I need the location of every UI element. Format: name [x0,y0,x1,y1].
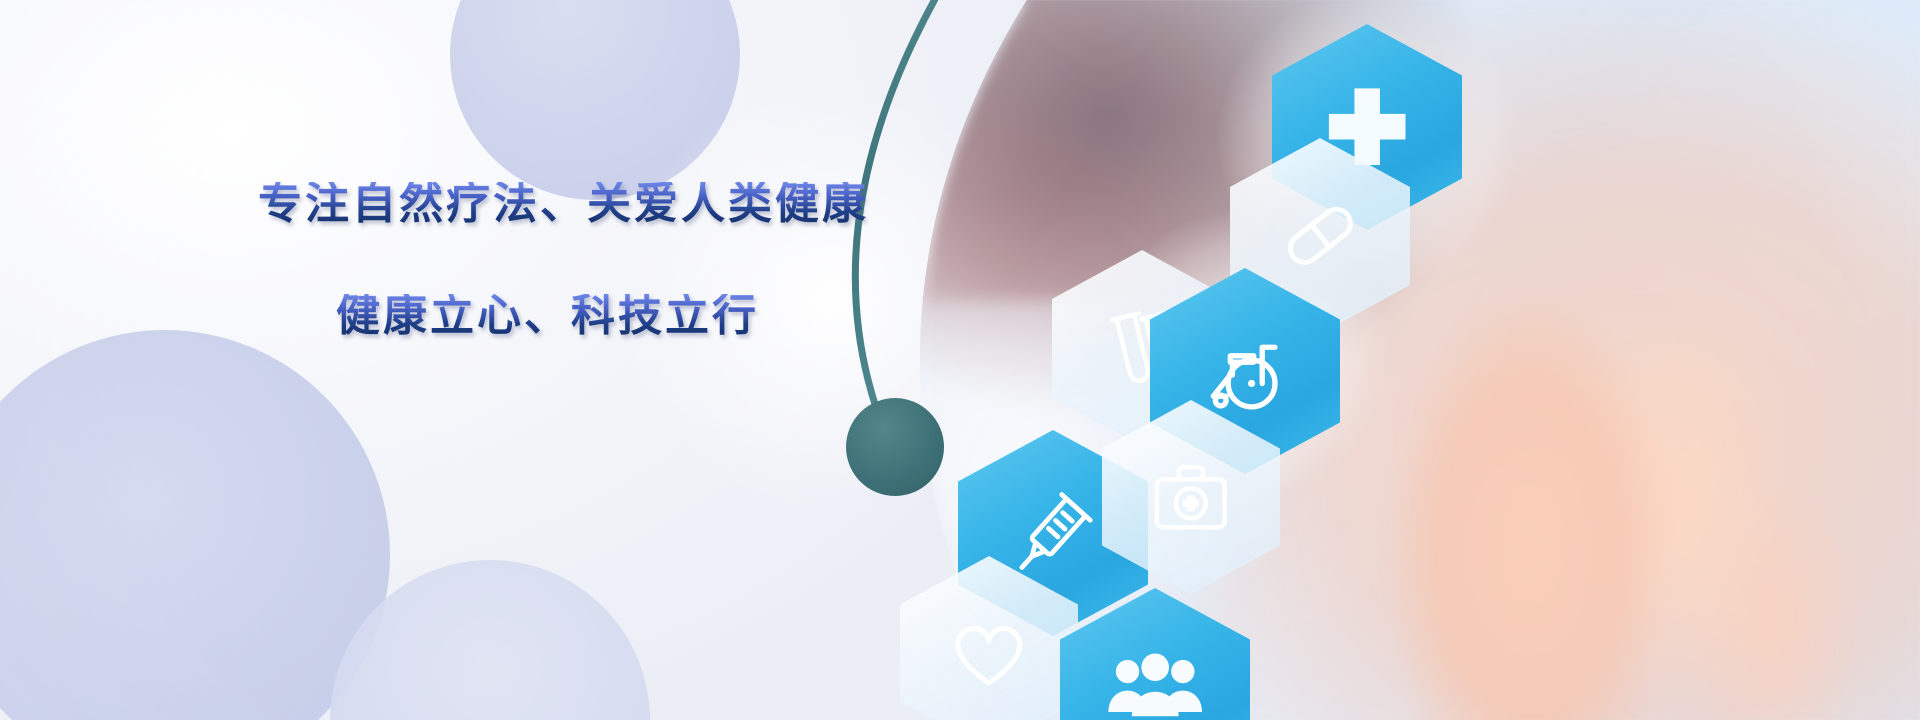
lavender-circle-bottom-right [330,560,650,720]
teal-node-dot [846,398,944,496]
lavender-circle-bottom-left [0,330,390,720]
people-group-icon [1102,633,1208,720]
headline-block: 专注自然疗法、关爱人类健康 健康立心、科技立行 [258,182,978,338]
pill-capsule-icon [1270,181,1371,291]
teal-arc-divider [790,0,1050,720]
hero-banner: 专注自然疗法、关爱人类健康 健康立心、科技立行 [0,0,1920,720]
headline-line-1: 专注自然疗法、关爱人类健康 [258,182,978,226]
hexagon-icon-cluster [900,0,1920,720]
first-aid-kit-icon [1141,443,1241,552]
lavender-circle-top [450,0,740,200]
headline-line-2: 健康立心、科技立行 [336,294,978,338]
